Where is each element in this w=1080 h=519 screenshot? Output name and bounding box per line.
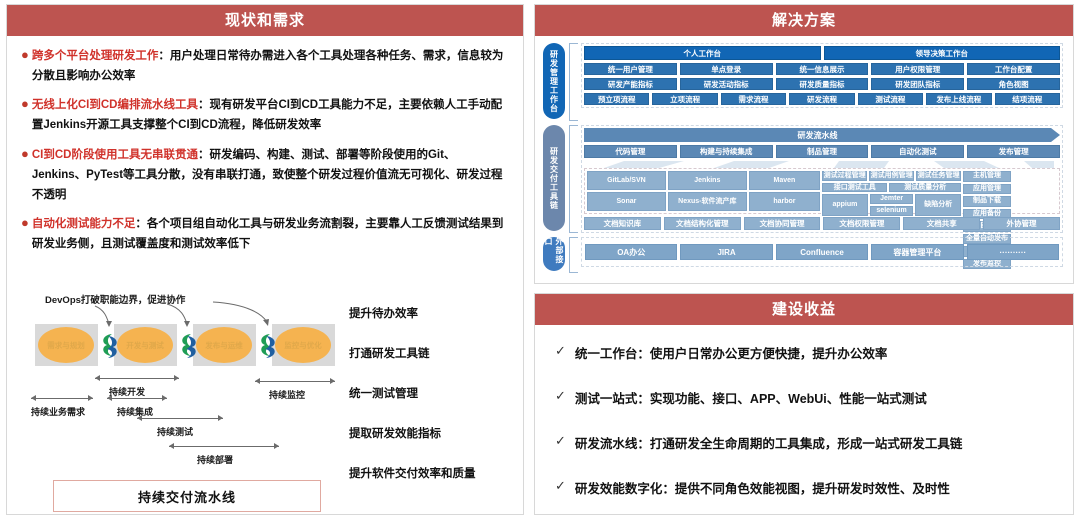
tool-box[interactable]: Jenkins: [668, 171, 747, 190]
module-box[interactable]: 研发流程: [789, 93, 854, 105]
tool-box[interactable]: GitLab/SVN: [587, 171, 666, 190]
current-state-panel: 现状和需求 ● 跨多个平台处理研发工作：用户处理日常待办需进入各个工具处理各种任…: [6, 4, 524, 515]
bullet-dot-icon: ●: [21, 145, 29, 164]
module-box[interactable]: OA办公: [585, 244, 677, 260]
list-item: ✓ 研发流水线：打通研发全生命周期的工具集成，形成一站式研发工具链: [555, 433, 1053, 452]
module-box[interactable]: 文档知识库: [584, 217, 661, 230]
devops-swirl-icon: [177, 332, 201, 360]
tool-box[interactable]: 测试用例管理: [869, 171, 914, 181]
benefits-list: ✓ 统一工作台：使用户日常办公更方便快捷，提升办公效率 ✓ 测试一站式：实现功能…: [535, 325, 1073, 497]
devops-stage-row: 需求与规划 开发与测试 发布与运维 监控与优化: [35, 324, 335, 366]
benefit-text: 研发流水线：打通研发全生命周期的工具集成，形成一站式研发工具链: [575, 433, 963, 452]
architecture-diagram: 研发管理工作台 个人工作台 领导决策工作台 统一用户管理 单点登录 统一信息展示…: [543, 41, 1067, 279]
list-item: 统一测试管理: [349, 385, 524, 401]
benefit-keyword: 统一工作台: [575, 347, 638, 361]
workbench-process-row: 预立项流程 立项流程 需求流程 研发流程 测试流程 发布上线流程 结项流程: [584, 93, 1060, 105]
phase-box[interactable]: 代码管理: [584, 145, 677, 158]
test-top-row: 测试过程管理 测试用例管理 测试任务管理: [822, 171, 961, 181]
benefit-text: 测试一站式：实现功能、接口、APP、WebUi、性能一站式测试: [575, 388, 927, 407]
bullet-keyword: 无线上化CI到CD编排流水线工具: [32, 99, 198, 111]
benefits-panel: 建设收益 ✓ 统一工作台：使用户日常办公更方便快捷，提升办公效率 ✓ 测试一站式…: [534, 293, 1074, 515]
devops-stage-ellipse: 需求与规划: [38, 327, 94, 363]
tool-boxes-group: GitLab/SVN Sonar Jenkins Nexus-软件流产库 Mav…: [584, 168, 1060, 214]
test-mid-row: 接口测试工具 测试质量分析: [822, 183, 961, 193]
phase-box[interactable]: 制品管理: [776, 145, 869, 158]
document-row: 文档知识库 文档结构化管理 文档协同管理 文档权限管理 文档共享 外协管理: [584, 217, 1060, 230]
module-box[interactable]: 立项流程: [652, 93, 717, 105]
flow-arrow-label: 持续业务需求: [31, 405, 85, 418]
flow-arrow: [255, 377, 335, 387]
list-item: ✓ 统一工作台：使用户日常办公更方便快捷，提升办公效率: [555, 343, 1053, 362]
flow-arrow: [169, 442, 279, 452]
devops-stage-ellipse: 监控与优化: [275, 327, 331, 363]
phase-box[interactable]: 自动化测试: [871, 145, 964, 158]
build-tools-column: Jenkins Nexus-软件流产库: [668, 171, 747, 211]
module-box[interactable]: 预立项流程: [584, 93, 649, 105]
devops-stage-ellipse: 发布与运维: [196, 327, 252, 363]
flow-arrow-label: 持续监控: [269, 388, 305, 401]
benefit-text: 研发效能数字化：提供不同角色效能视图，提升研发时效性、及时性: [575, 478, 950, 497]
check-icon: ✓: [555, 343, 566, 359]
solution-panel-title: 解决方案: [535, 5, 1073, 36]
brace-icon: [569, 237, 578, 273]
layer-tab-workbench: 研发管理工作台: [543, 43, 565, 119]
layer-tab-label: 外部接口: [543, 237, 565, 271]
benefit-rest: ：使用户日常办公更方便快捷，提升办公效率: [637, 347, 887, 361]
list-item: 提升软件交付效率和质量: [349, 465, 524, 481]
layer-tab-label: 研发管理工作台: [549, 50, 560, 113]
module-box[interactable]: 个人工作台: [584, 46, 821, 60]
bullet-keyword: CI到CD阶段使用工具无串联贯通: [32, 149, 198, 161]
slide-canvas: 现状和需求 ● 跨多个平台处理研发工作：用户处理日常待办需进入各个工具处理各种任…: [0, 0, 1080, 519]
continuous-delivery-pipeline-box: 持续交付流水线: [53, 480, 321, 512]
list-item: ● 无线上化CI到CD编排流水线工具：现有研发平台CI到CD工具能力不足，主要依…: [21, 95, 509, 135]
bullet-keyword: 跨多个平台处理研发工作: [32, 50, 159, 62]
tool-box[interactable]: selenium: [870, 206, 914, 216]
benefit-rest: ：提供不同角色效能视图，提升研发时效性、及时性: [662, 482, 950, 496]
tool-box[interactable]: Nexus-软件流产库: [668, 192, 747, 211]
test-tool-stack: Jemter selenium: [870, 194, 914, 215]
benefits-panel-title: 建设收益: [535, 294, 1073, 325]
flow-arrow: [137, 414, 223, 424]
module-box[interactable]: 文档结构化管理: [664, 217, 741, 230]
benefit-keyword: 研发效能数字化: [575, 482, 663, 496]
list-item: 提升待办效率: [349, 305, 524, 321]
layer-tab-label: 研发交付工具链: [549, 147, 560, 210]
bullet-text: CI到CD阶段使用工具无串联贯通：研发编码、构建、测试、部署等阶段使用的Git、…: [32, 145, 509, 205]
devops-lifecycle-diagram: DevOps打破职能边界，促进协作 需求与规划 开发与测试 发布与运维 监控与优…: [17, 290, 347, 515]
tool-box[interactable]: 接口测试工具: [822, 183, 887, 193]
module-box[interactable]: 文档共享: [903, 217, 980, 230]
workbench-metrics-row: 研发产能指标 研发活动指标 研发质量指标 研发团队指标 角色视图: [584, 78, 1060, 90]
external-row: OA办公 JIRA Confluence 容器管理平台 ··········: [585, 244, 1059, 260]
benefit-keyword: 测试一站式: [575, 392, 638, 406]
tool-box[interactable]: 应用管理: [963, 184, 1011, 195]
bullet-text: 自动化测试能力不足：各个项目组自动化工具与研发业务流割裂，主要靠人工反馈测试结果…: [32, 214, 509, 254]
module-box[interactable]: 测试流程: [858, 93, 923, 105]
tool-box[interactable]: Maven: [749, 171, 820, 190]
workbench-user-row: 统一用户管理 单点登录 统一信息展示 用户权限管理 工作台配置: [584, 63, 1060, 75]
tool-box[interactable]: 测试过程管理: [822, 171, 867, 181]
bullet-text: 无线上化CI到CD编排流水线工具：现有研发平台CI到CD工具能力不足，主要依赖人…: [32, 95, 509, 135]
module-box[interactable]: 单点登录: [680, 63, 773, 75]
current-state-bullet-list: ● 跨多个平台处理研发工作：用户处理日常待办需进入各个工具处理各种任务、需求，信…: [7, 36, 523, 254]
list-item: 打通研发工具链: [349, 345, 524, 361]
module-box[interactable]: 研发团队指标: [871, 78, 964, 90]
benefit-rest: ：打通研发全生命周期的工具集成，形成一站式研发工具链: [637, 437, 962, 451]
devops-stage-label: 监控与优化: [284, 340, 322, 351]
module-box[interactable]: 文档权限管理: [823, 217, 900, 230]
module-box[interactable]: 统一信息展示: [776, 63, 869, 75]
layer-tab-toolchain: 研发交付工具链: [543, 125, 565, 231]
bullet-text: 跨多个平台处理研发工作：用户处理日常待办需进入各个工具处理各种任务、需求，信息较…: [32, 46, 509, 86]
module-box[interactable]: 结项流程: [995, 93, 1060, 105]
tool-box[interactable]: Jemter: [870, 194, 914, 204]
pipeline-banner: 研发流水线: [584, 128, 1051, 142]
devops-stage-label: 开发与测试: [126, 340, 164, 351]
devops-swirl-icon: [98, 332, 122, 360]
tool-box[interactable]: 测试任务管理: [916, 171, 961, 181]
continuous-delivery-pipeline-label: 持续交付流水线: [138, 487, 236, 506]
test-bottom-row: appium Jemter selenium 缺陷分析: [822, 194, 961, 215]
benefit-rest: ：实现功能、接口、APP、WebUi、性能一站式测试: [637, 392, 926, 406]
module-box[interactable]: 发布上线流程: [926, 93, 991, 105]
workbench-group: 个人工作台 领导决策工作台 统一用户管理 单点登录 统一信息展示 用户权限管理 …: [581, 43, 1063, 108]
tool-box[interactable]: harbor: [749, 192, 820, 211]
module-box[interactable]: 研发质量指标: [776, 78, 869, 90]
module-box[interactable]: 角色视图: [967, 78, 1060, 90]
devops-stage-ellipse: 开发与测试: [117, 327, 173, 363]
devops-swirl-icon: [256, 332, 280, 360]
bullet-dot-icon: ●: [21, 46, 29, 65]
pipeline-phase-row: 代码管理 构建与持续集成 制品管理 自动化测试 发布管理: [584, 145, 1060, 158]
module-box[interactable]: 领导决策工作台: [824, 46, 1061, 60]
phase-box[interactable]: 发布管理: [967, 145, 1060, 158]
devops-stage-label: 需求与规划: [47, 340, 85, 351]
artifact-tools-column: Maven harbor: [749, 171, 820, 211]
module-box[interactable]: 工作台配置: [967, 63, 1060, 75]
funnel-connectors: [584, 161, 1062, 168]
bullet-dot-icon: ●: [21, 95, 29, 114]
tool-box[interactable]: 缺陷分析: [915, 194, 961, 215]
benefit-text: 统一工作台：使用户日常办公更方便快捷，提升办公效率: [575, 343, 888, 362]
bullet-dot-icon: ●: [21, 214, 29, 233]
tool-box[interactable]: 测试质量分析: [889, 183, 961, 193]
module-box[interactable]: 容器管理平台: [871, 244, 963, 260]
workbench-top-row: 个人工作台 领导决策工作台: [584, 46, 1060, 60]
check-icon: ✓: [555, 433, 566, 449]
module-box[interactable]: 统一用户管理: [584, 63, 677, 75]
tool-box[interactable]: appium: [822, 194, 868, 215]
module-box[interactable]: 用户权限管理: [871, 63, 964, 75]
list-item: ✓ 研发效能数字化：提供不同角色效能视图，提升研发时效性、及时性: [555, 478, 1053, 497]
flow-arrow-label: 持续部署: [197, 453, 233, 466]
outcomes-list: 提升待办效率 打通研发工具链 统一测试管理 提取研发效能指标 提升软件交付效率和…: [349, 305, 524, 505]
check-icon: ✓: [555, 478, 566, 494]
left-panel-title: 现状和需求: [7, 5, 523, 36]
layer-tab-external: 外部接口: [543, 237, 565, 271]
module-box[interactable]: 需求流程: [721, 93, 786, 105]
list-item: ✓ 测试一站式：实现功能、接口、APP、WebUi、性能一站式测试: [555, 388, 1053, 407]
list-item: 提取研发效能指标: [349, 425, 524, 441]
test-tools-block: 测试过程管理 测试用例管理 测试任务管理 接口测试工具 测试质量分析 appiu…: [822, 171, 961, 211]
flow-arrow: [107, 394, 167, 404]
benefit-keyword: 研发流水线: [575, 437, 638, 451]
module-box[interactable]: Confluence: [776, 244, 868, 260]
list-item: ● 跨多个平台处理研发工作：用户处理日常待办需进入各个工具处理各种任务、需求，信…: [21, 46, 509, 86]
module-box[interactable]: JIRA: [680, 244, 772, 260]
flow-arrow: [31, 394, 93, 404]
list-item: ● CI到CD阶段使用工具无串联贯通：研发编码、构建、测试、部署等阶段使用的Gi…: [21, 145, 509, 205]
deploy-tools-block: 主机管理 应用管理 制品下载 应用备份 增量自动发布 全量自动发布 应用启停 发…: [963, 171, 1057, 211]
brace-icon: [569, 125, 578, 233]
module-box[interactable]: 研发产能指标: [584, 78, 677, 90]
devops-stage-label: 发布与运维: [205, 340, 243, 351]
check-icon: ✓: [555, 388, 566, 404]
flow-arrow-label: 持续测试: [157, 425, 193, 438]
module-box[interactable]: 外协管理: [983, 217, 1060, 230]
list-item: ● 自动化测试能力不足：各个项目组自动化工具与研发业务流割裂，主要靠人工反馈测试…: [21, 214, 509, 254]
brace-icon: [569, 43, 578, 121]
code-tools-column: GitLab/SVN Sonar: [587, 171, 666, 211]
toolchain-group: 研发流水线 代码管理 构建与持续集成 制品管理 自动化测试 发布管理: [581, 125, 1063, 233]
tool-box[interactable]: 主机管理: [963, 171, 1011, 182]
module-box[interactable]: ··········: [967, 244, 1059, 260]
module-box[interactable]: 研发活动指标: [680, 78, 773, 90]
flow-arrow: [95, 374, 179, 384]
tool-box[interactable]: Sonar: [587, 192, 666, 211]
tool-box[interactable]: 制品下载: [963, 196, 1011, 207]
external-group: OA办公 JIRA Confluence 容器管理平台 ··········: [581, 237, 1063, 267]
module-box[interactable]: 文档协同管理: [744, 217, 821, 230]
phase-box[interactable]: 构建与持续集成: [680, 145, 773, 158]
bullet-keyword: 自动化测试能力不足: [32, 218, 136, 230]
solution-panel: 解决方案 研发管理工作台 个人工作台 领导决策工作台 统一用户管理 单点登录 统…: [534, 4, 1074, 284]
